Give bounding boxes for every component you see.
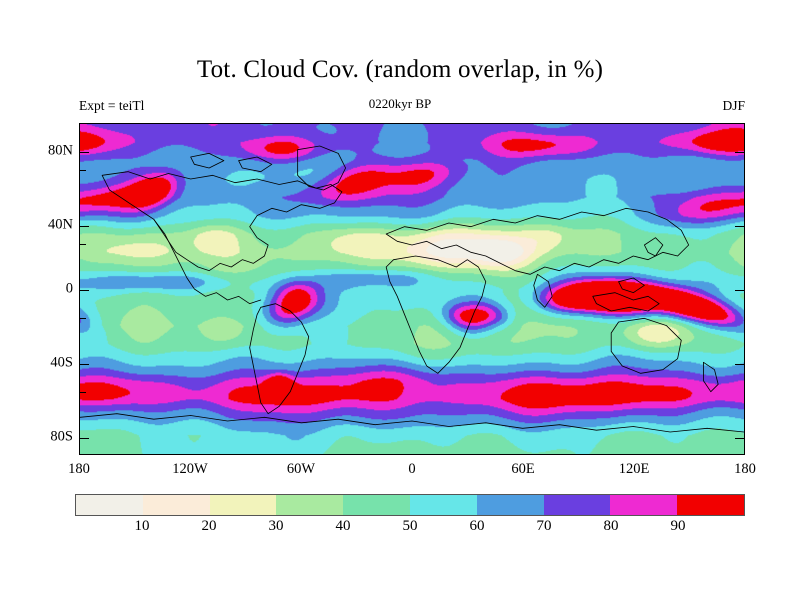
colorbar-band xyxy=(143,495,210,515)
colorbar-tick-label: 50 xyxy=(403,518,418,535)
colorbar-tick-label: 80 xyxy=(604,518,619,535)
colorbar-band xyxy=(477,495,544,515)
colorbar-tick-label: 60 xyxy=(470,518,485,535)
colorbar-band xyxy=(544,495,611,515)
y-tick-label: 80N xyxy=(48,143,73,160)
x-tick-label: 60W xyxy=(287,461,315,478)
x-tick-label: 180 xyxy=(68,461,90,478)
colorbar-band xyxy=(210,495,277,515)
colorbar-band xyxy=(410,495,477,515)
figure-canvas: Tot. Cloud Cov. (random overlap, in %) E… xyxy=(0,0,800,600)
x-tick-label: 60E xyxy=(511,461,534,478)
y-tick-label: 40N xyxy=(48,217,73,234)
colorbar-tick-label: 20 xyxy=(202,518,217,535)
x-tick-label: 120E xyxy=(619,461,650,478)
colorbar-tick-label: 40 xyxy=(336,518,351,535)
colorbar-tick-label: 10 xyxy=(135,518,150,535)
colorbar-band xyxy=(677,495,744,515)
y-tick-label: 80S xyxy=(50,429,73,446)
y-tick-label: 40S xyxy=(50,355,73,372)
y-tick-label: 0 xyxy=(66,281,73,298)
colorbar-tick-label: 70 xyxy=(537,518,552,535)
colorbar xyxy=(75,494,745,516)
colorbar-band xyxy=(76,495,143,515)
colorbar-band xyxy=(276,495,343,515)
colorbar-band xyxy=(610,495,677,515)
colorbar-band xyxy=(343,495,410,515)
colorbar-tick-label: 90 xyxy=(671,518,686,535)
x-tick-label: 120W xyxy=(172,461,207,478)
x-tick-label: 180 xyxy=(734,461,756,478)
x-tick-label: 0 xyxy=(408,461,415,478)
colorbar-tick-label: 30 xyxy=(269,518,284,535)
